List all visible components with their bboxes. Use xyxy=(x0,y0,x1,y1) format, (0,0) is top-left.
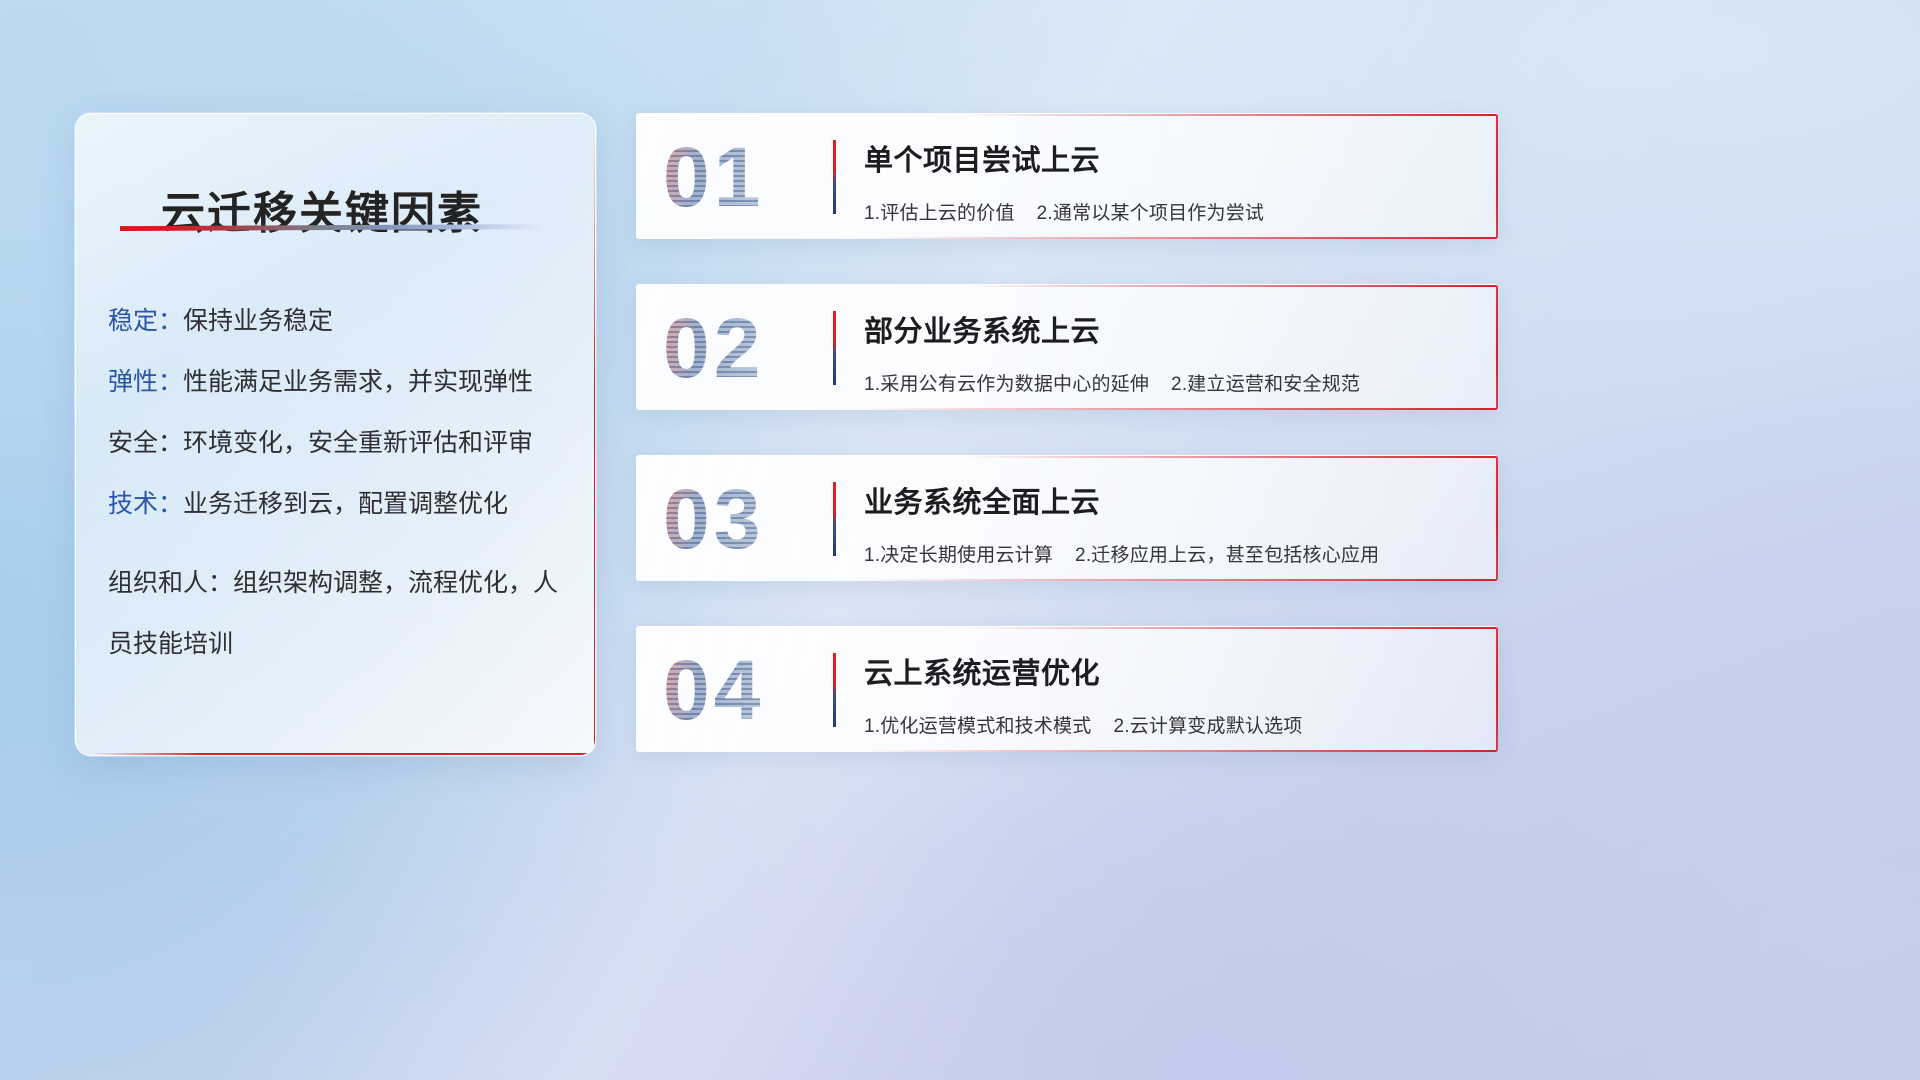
card-title: 业务系统全面上云 xyxy=(864,479,1472,521)
card-title: 云上系统运营优化 xyxy=(864,650,1472,692)
card-body: 单个项目尝试上云 1.评估上云的价值2.通常以某个项目作为尝试 xyxy=(864,137,1472,239)
card-body: 业务系统全面上云 1.决定长期使用云计算2.迁移应用上云，甚至包括核心应用 xyxy=(864,479,1472,581)
card-points: 1.采用公有云作为数据中心的延伸2.建立运营和安全规范 xyxy=(864,369,1472,396)
stage-card-03[interactable]: 03 业务系统全面上云 1.决定长期使用云计算2.迁移应用上云，甚至包括核心应用 xyxy=(636,455,1498,581)
factor-item-security: 安全：环境变化，安全重新评估和评审 xyxy=(108,431,575,456)
card-point-2: 2.迁移应用上云，甚至包括核心应用 xyxy=(1075,545,1379,566)
card-points: 1.评估上云的价值2.通常以某个项目作为尝试 xyxy=(864,198,1472,225)
factor-label: 技术： xyxy=(108,490,183,518)
factor-text: 性能满足业务需求，并实现弹性 xyxy=(183,368,533,396)
stage-number: 01 xyxy=(663,135,764,219)
card-point-1: 1.优化运营模式和技术模式 xyxy=(864,716,1091,737)
card-accent-bar xyxy=(833,482,836,556)
card-right-accent xyxy=(1496,285,1498,410)
card-top-accent xyxy=(964,627,1498,629)
card-right-accent xyxy=(1496,456,1498,581)
factor-label: 稳定： xyxy=(108,307,183,335)
card-accent-bar xyxy=(833,653,836,727)
card-right-accent xyxy=(1496,627,1498,752)
factor-item-technology: 技术：业务迁移到云，配置调整优化 xyxy=(108,492,575,517)
factors-list: 稳定：保持业务稳定 弹性：性能满足业务需求，并实现弹性 安全：环境变化，安全重新… xyxy=(108,309,575,710)
factor-text: 业务迁移到云，配置调整优化 xyxy=(183,490,508,518)
card-accent-bar xyxy=(833,311,836,385)
stage-card-01[interactable]: 01 单个项目尝试上云 1.评估上云的价值2.通常以某个项目作为尝试 xyxy=(636,113,1498,239)
card-point-2: 2.通常以某个项目作为尝试 xyxy=(1037,203,1264,224)
stage-card-04[interactable]: 04 云上系统运营优化 1.优化运营模式和技术模式2.云计算变成默认选项 xyxy=(636,626,1498,752)
factor-label: 组织和人： xyxy=(108,569,233,597)
card-point-2: 2.建立运营和安全规范 xyxy=(1171,374,1360,395)
card-points: 1.决定长期使用云计算2.迁移应用上云，甚至包括核心应用 xyxy=(864,540,1472,567)
factor-label: 弹性： xyxy=(108,368,183,396)
stage-card-02[interactable]: 02 部分业务系统上云 1.采用公有云作为数据中心的延伸2.建立运营和安全规范 xyxy=(636,284,1498,410)
migration-stage-cards: 01 单个项目尝试上云 1.评估上云的价值2.通常以某个项目作为尝试 02 部分… xyxy=(636,113,1498,797)
factor-item-stability: 稳定：保持业务稳定 xyxy=(108,309,575,334)
card-point-2: 2.云计算变成默认选项 xyxy=(1113,716,1302,737)
card-top-accent xyxy=(964,114,1498,116)
stage-number: 02 xyxy=(663,306,764,390)
card-point-1: 1.评估上云的价值 xyxy=(864,203,1015,224)
card-point-1: 1.采用公有云作为数据中心的延伸 xyxy=(864,374,1149,395)
factor-text: 环境变化，安全重新评估和评审 xyxy=(183,429,533,457)
card-title: 单个项目尝试上云 xyxy=(864,137,1472,179)
panel-accent-border xyxy=(92,753,594,755)
card-title: 部分业务系统上云 xyxy=(864,308,1472,350)
card-point-1: 1.决定长期使用云计算 xyxy=(864,545,1053,566)
card-accent-bar xyxy=(833,140,836,214)
factor-item-organization-and-people: 组织和人：组织架构调整，流程优化，人员技能培训 xyxy=(108,553,575,674)
card-points: 1.优化运营模式和技术模式2.云计算变成默认选项 xyxy=(864,711,1472,738)
factor-label: 安全： xyxy=(108,429,183,457)
factor-item-elasticity: 弹性：性能满足业务需求，并实现弹性 xyxy=(108,370,575,395)
card-right-accent xyxy=(1496,114,1498,239)
page-title: 云迁移关键因素 xyxy=(161,177,483,241)
key-factors-panel: 云迁移关键因素 稳定：保持业务稳定 弹性：性能满足业务需求，并实现弹性 安全：环… xyxy=(75,113,596,756)
stage-number: 03 xyxy=(663,477,764,561)
stage-number: 04 xyxy=(663,648,764,732)
factor-text: 保持业务稳定 xyxy=(183,307,333,335)
card-top-accent xyxy=(964,456,1498,458)
card-body: 部分业务系统上云 1.采用公有云作为数据中心的延伸2.建立运营和安全规范 xyxy=(864,308,1472,410)
card-top-accent xyxy=(964,285,1498,287)
card-body: 云上系统运营优化 1.优化运营模式和技术模式2.云计算变成默认选项 xyxy=(864,650,1472,752)
